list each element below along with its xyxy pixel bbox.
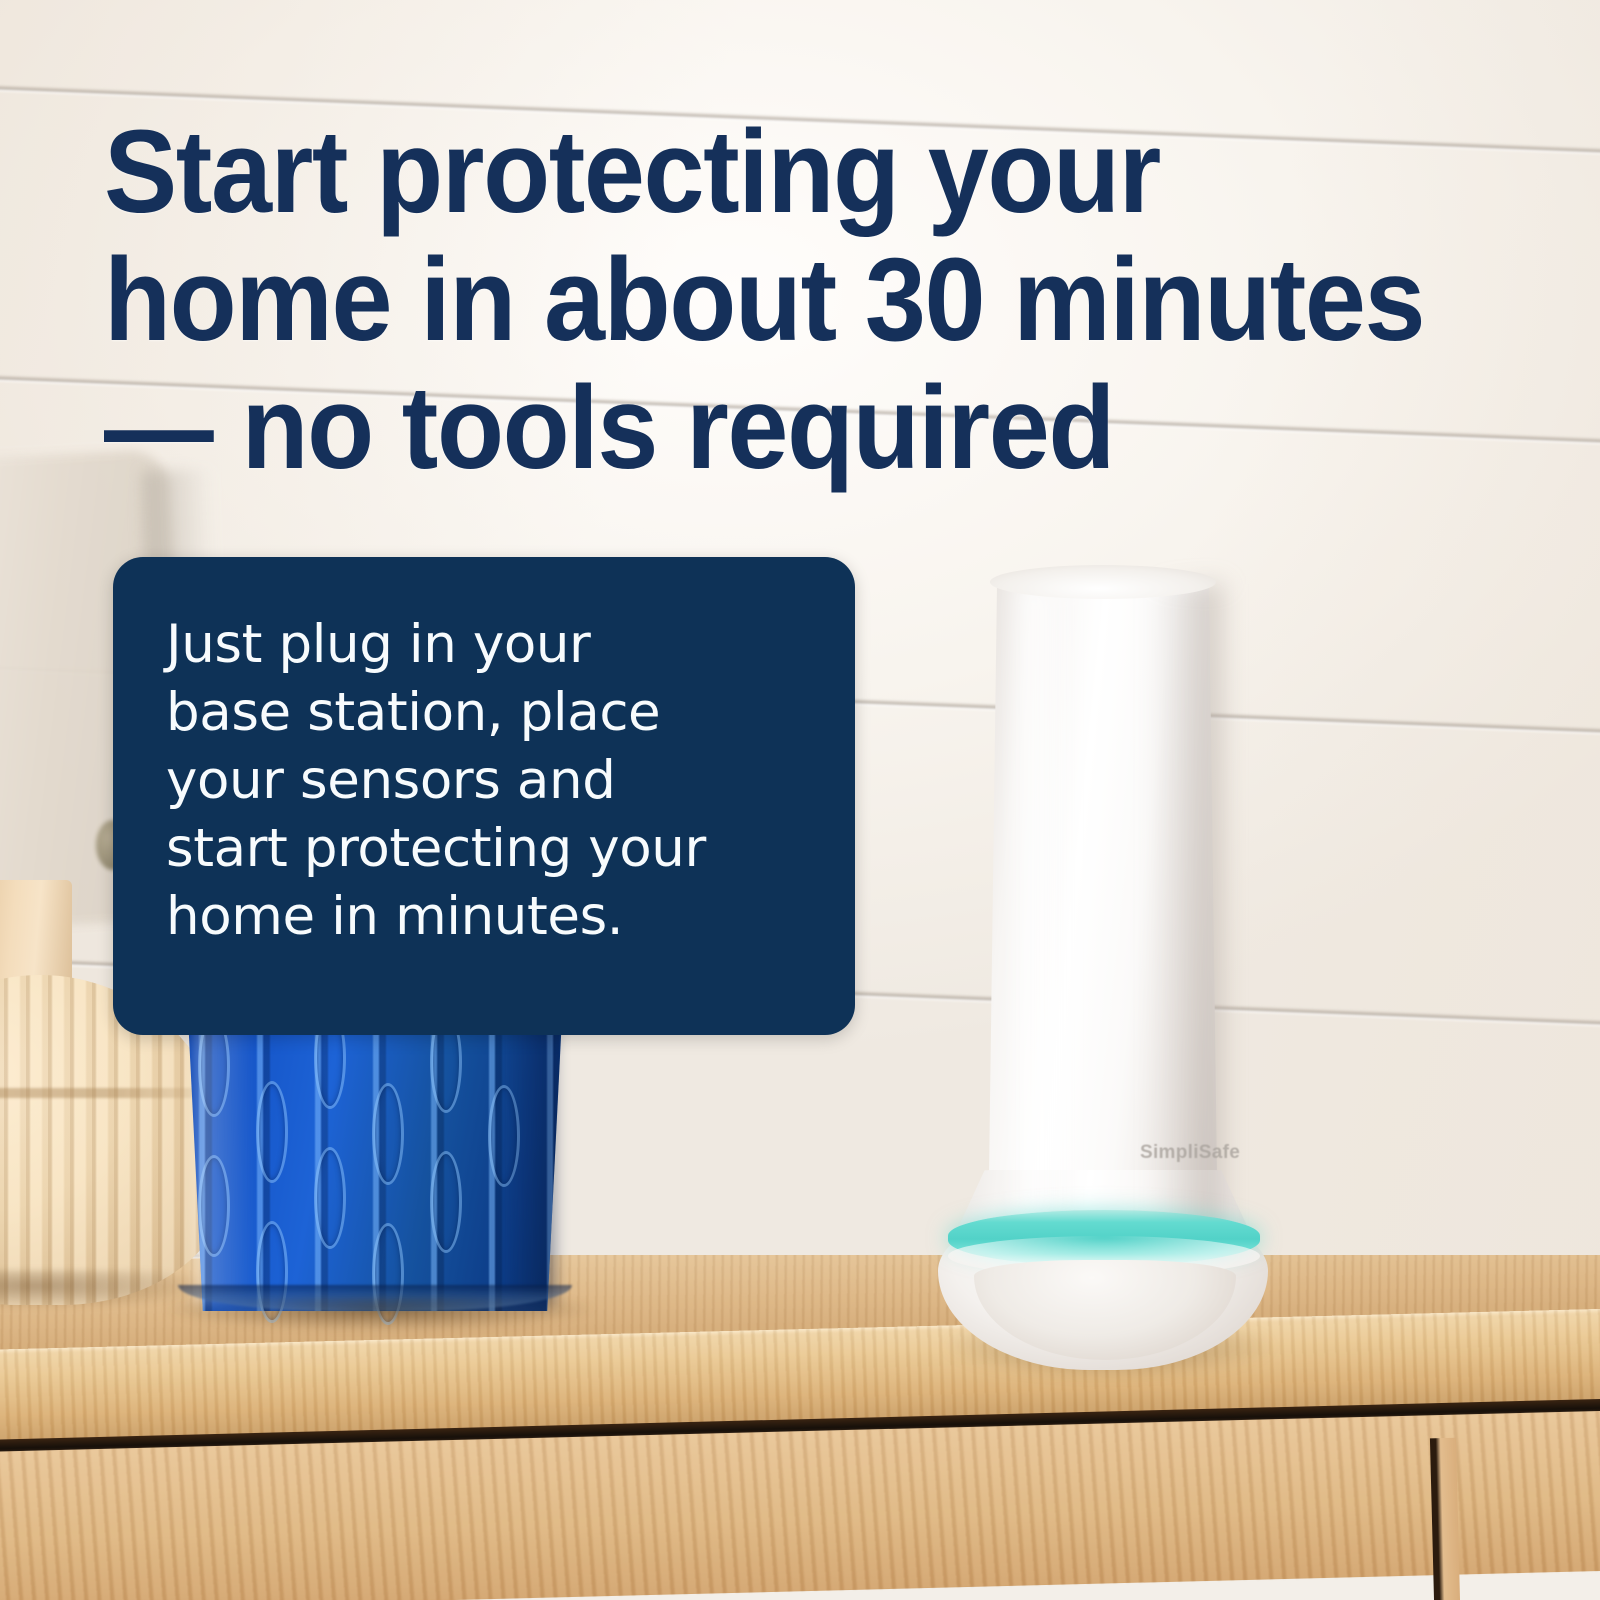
- callout-line-4: start protecting your: [166, 815, 806, 883]
- device-highlight: [1018, 584, 1080, 1224]
- blue-vase-shadow: [164, 1297, 594, 1331]
- headline-line-1: Start protecting your: [104, 108, 1397, 236]
- drawer-frame-stile: [1430, 1438, 1460, 1600]
- callout-line-3: your sensors and: [166, 747, 806, 815]
- callout-line-5: home in minutes.: [166, 883, 806, 951]
- blue-vase-lens: [430, 1151, 462, 1253]
- blue-vase-lens: [256, 1081, 288, 1183]
- blue-vase-highlight: [194, 991, 254, 1305]
- device-top-cap: [990, 565, 1216, 599]
- simplisafe-base-station: SimpliSafe: [900, 570, 1320, 1360]
- callout-body-text: Just plug in your base station, place yo…: [166, 611, 806, 951]
- promo-scene: SimpliSafe Start protecting your home in…: [0, 0, 1600, 1600]
- callout-line-2: base station, place: [166, 679, 806, 747]
- blue-vase-lens: [314, 1147, 346, 1249]
- headline-line-3: — no tools required: [104, 364, 1397, 492]
- blue-vase-lens: [372, 1083, 404, 1185]
- simplisafe-logo: SimpliSafe: [1140, 1142, 1270, 1164]
- callout-line-1: Just plug in your: [166, 611, 806, 679]
- callout-card: Just plug in your base station, place yo…: [113, 557, 855, 1035]
- headline-line-2: home in about 30 minutes: [104, 236, 1397, 364]
- blue-vase-shading: [500, 991, 555, 1305]
- page-title: Start protecting your home in about 30 m…: [104, 108, 1397, 492]
